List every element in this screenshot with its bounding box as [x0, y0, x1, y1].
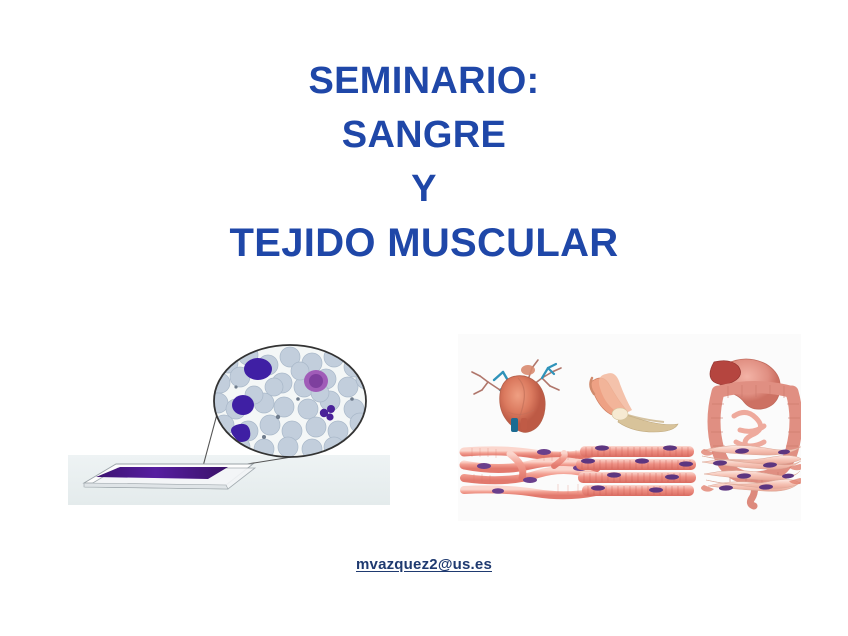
muscle-tissue-graphic [458, 334, 801, 521]
cardiac-muscle-fibers [464, 448, 596, 495]
title-line-2: SANGRE [0, 108, 848, 162]
white-blood-cell-lymphocyte-2 [232, 395, 254, 415]
magnified-field [208, 343, 378, 464]
aorta-stub [521, 418, 527, 430]
vena-cava [511, 418, 518, 432]
panel-cardiac [464, 360, 596, 495]
heart-organ-icon [472, 360, 561, 432]
microscope-slide [84, 464, 255, 489]
small-intestine [734, 412, 764, 448]
contact-email-link[interactable]: mvazquez2@us.es [356, 556, 492, 573]
title-line-1: SEMINARIO: [0, 54, 848, 108]
elbow-joint [612, 408, 628, 420]
blood-smear-stain [96, 467, 228, 479]
panel-skeletal [576, 373, 696, 496]
arm-biceps-organ-icon [590, 373, 678, 432]
blood-smear-figure [68, 343, 390, 505]
contact-email-container: mvazquez2@us.es [0, 556, 848, 574]
title-line-4: TEJIDO MUSCULAR [0, 216, 848, 270]
panel-smooth [701, 359, 801, 506]
white-blood-cell-lymphocyte [244, 358, 272, 380]
slide-title: SEMINARIO: SANGRE Y TEJIDO MUSCULAR [0, 54, 848, 270]
title-line-3: Y [0, 162, 848, 216]
blood-smear-graphic [68, 343, 390, 505]
presentation-slide: SEMINARIO: SANGRE Y TEJIDO MUSCULAR [0, 0, 848, 636]
muscle-tissue-figure [458, 334, 801, 521]
